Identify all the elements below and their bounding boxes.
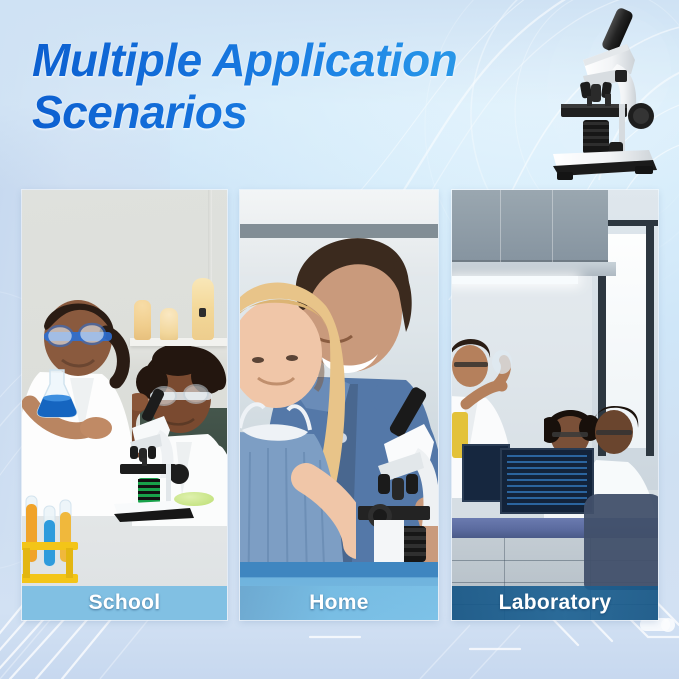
scenario-card-school[interactable]: School [22,190,227,620]
panel-caption-laboratory: Laboratory [452,586,658,620]
infographic-banner: Multiple Application Scenarios [0,0,679,679]
classroom-science-scene [22,190,227,620]
panel-caption-school: School [22,586,227,620]
scenario-card-home[interactable]: Home [240,190,438,620]
panel-caption-home: Home [240,586,438,620]
scenario-card-laboratory[interactable]: Laboratory [452,190,658,620]
microscope-icon [344,386,438,586]
scenario-panels: School [22,190,658,620]
family-home-scene [240,190,438,620]
headline-line-2: Scenarios [32,86,572,138]
research-lab-scene [452,190,658,620]
test-tube-rack-icon [22,490,78,586]
page-title: Multiple Application Scenarios [32,34,572,139]
headline-line-1: Multiple Application [32,34,572,86]
flask-icon [34,368,80,418]
